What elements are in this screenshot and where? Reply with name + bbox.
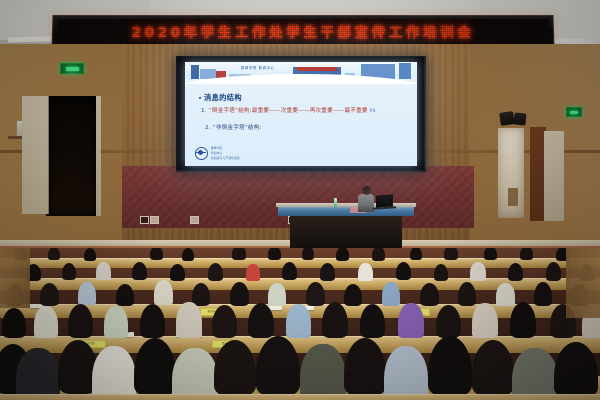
audience-person <box>302 248 314 260</box>
slide-list-item-1: 1. “倒金字塔”结构:最重要——次重要——再次重要——最不重要 P4 <box>201 107 407 116</box>
projection-screen-frame: 邯郸学院 新闻中心 消息的结构 1. “倒金字塔”结构:最重要——次重要——再次… <box>176 56 426 172</box>
audience-person <box>300 344 346 400</box>
audience-person <box>384 346 428 400</box>
audience-person <box>512 348 558 400</box>
audience-person <box>192 283 210 306</box>
audience-person <box>208 263 223 281</box>
audience-person <box>268 283 286 306</box>
audience-person <box>436 305 461 338</box>
audience-person <box>104 306 128 338</box>
running-man-glyph <box>66 67 79 71</box>
wall-outlet <box>150 216 159 224</box>
audience-person <box>320 263 335 281</box>
speaker-head <box>362 186 371 195</box>
school-emblem-icon <box>195 147 208 160</box>
audience-person <box>116 284 134 306</box>
right-lower-wall <box>566 248 600 318</box>
audience-person <box>496 283 515 306</box>
laptop <box>376 194 393 207</box>
slide-footer-logo: 邯郸学院 新闻中心 新闻采写与干部培训班 <box>195 146 240 160</box>
audience-person <box>84 248 96 261</box>
audience-person <box>398 303 424 338</box>
audience-person <box>248 303 274 338</box>
audience-person <box>444 248 458 260</box>
projection-screen: 邯郸学院 新闻中心 消息的结构 1. “倒金字塔”结构:最重要——次重要——再次… <box>185 62 417 166</box>
slide-item-number-2: 2. <box>205 125 211 131</box>
water-bottle <box>334 198 337 208</box>
audience-area: 新闻采编组 学生会 宣传部 青年传媒 记者团 新媒体中心 <box>0 248 600 400</box>
audience-person <box>92 346 136 400</box>
audience-person <box>40 283 59 306</box>
slide-heading-row: 消息的结构 <box>199 93 407 103</box>
audience-person <box>360 304 385 338</box>
right-door-leaf-secondary[interactable] <box>544 131 564 221</box>
led-banner-text: 2020年学生工作处学生干部宣传工作培训会 <box>131 21 474 41</box>
audience-person <box>534 282 552 306</box>
audience-person <box>212 305 237 338</box>
slide-building <box>399 63 411 79</box>
wall-speaker-icon-secondary <box>513 112 526 125</box>
wall-speaker-icon <box>499 111 515 126</box>
slide-building <box>191 65 199 79</box>
slide-header-banner: 邯郸学院 新闻中心 <box>185 62 417 84</box>
led-banner-panel: 2020年学生工作处学生干部宣传工作培训会 <box>57 19 550 43</box>
podium-base <box>290 214 402 248</box>
audience-person <box>286 304 311 338</box>
audience-person <box>336 248 349 261</box>
audience-person <box>282 262 297 280</box>
audience-person <box>508 263 523 281</box>
audience-person <box>458 282 476 306</box>
audience-person <box>154 280 173 305</box>
slide-item-text-2: “非倒金字塔”结构: <box>213 125 262 131</box>
slide-building <box>297 67 337 71</box>
audience-person <box>34 306 58 338</box>
led-banner: 2020年学生工作处学生干部宣传工作培训会 <box>51 15 554 47</box>
audience-person <box>68 304 93 338</box>
audience-person <box>520 248 533 260</box>
slide-footer-line-2: 新闻中心 <box>211 151 240 155</box>
audience-person <box>372 248 385 261</box>
audience-person <box>2 308 26 338</box>
slide-footer-line-3: 新闻采写与干部培训班 <box>211 156 240 160</box>
exit-sign-icon-right <box>566 107 582 117</box>
audience-person <box>96 262 111 280</box>
audience-person <box>170 264 185 281</box>
audience-person <box>268 248 281 260</box>
audience-person <box>246 264 260 281</box>
slide-heading: 消息的结构 <box>204 93 242 103</box>
slide-item-pageref-1: P4 <box>370 109 376 114</box>
left-doorway-opening <box>46 96 98 216</box>
audience-person <box>132 262 147 280</box>
left-door-leaf[interactable] <box>22 96 49 214</box>
audience-person <box>470 262 486 281</box>
corridor-chair <box>508 188 518 206</box>
audience-person <box>396 262 411 280</box>
desk-row-front <box>0 394 600 400</box>
slide-item-number-1: 1. <box>201 108 207 114</box>
audience-person <box>78 282 96 305</box>
audience-person <box>182 248 194 261</box>
slide-footer-line-1: 邯郸学院 <box>211 146 240 150</box>
left-lower-wall <box>0 248 30 308</box>
audience-person <box>62 263 76 280</box>
wall-outlet <box>140 216 149 224</box>
audience-person <box>232 248 246 260</box>
audience-person <box>358 263 373 281</box>
audience-person <box>140 304 165 338</box>
lecture-hall-photo: 2020年学生工作处学生干部宣传工作培训会 <box>0 0 600 400</box>
running-man-glyph-right <box>570 111 578 114</box>
slide-list-item-2: 2. “非倒金字塔”结构: <box>205 124 407 132</box>
audience-person <box>344 284 362 306</box>
audience-person <box>230 282 249 306</box>
wall-outlet <box>190 216 199 224</box>
audience-person <box>472 303 498 338</box>
bullet-dot-icon <box>199 97 201 99</box>
audience-person <box>420 283 439 306</box>
audience-person <box>546 262 561 281</box>
audience-person <box>176 302 202 338</box>
audience-person <box>48 248 60 260</box>
slide-item-text-1: “倒金字塔”结构:最重要——次重要——再次重要——最不重要 <box>209 108 368 114</box>
slide-header-caption: 邯郸学院 新闻中心 <box>241 65 275 70</box>
slide-footer-logo-text: 邯郸学院 新闻中心 新闻采写与干部培训班 <box>211 146 240 160</box>
audience-person <box>434 264 448 281</box>
audience-person <box>322 302 348 338</box>
speaker-person <box>358 194 374 212</box>
left-door-frame <box>96 96 101 216</box>
audience-person <box>382 282 400 306</box>
audience-person <box>16 348 60 400</box>
exit-sign-icon <box>60 63 84 74</box>
audience-person <box>150 248 163 260</box>
audience-person <box>306 282 325 306</box>
audience-person <box>484 248 497 260</box>
audience-person <box>172 348 218 400</box>
audience-person <box>410 248 422 260</box>
audience-person <box>510 302 536 338</box>
